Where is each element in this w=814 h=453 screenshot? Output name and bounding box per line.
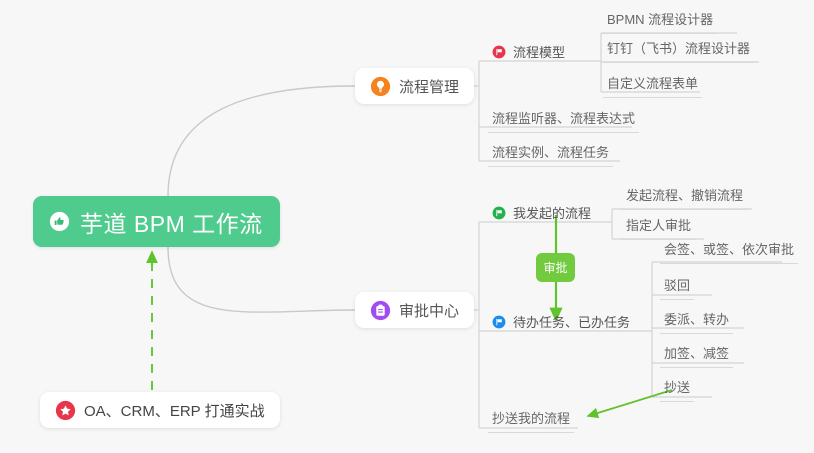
root-node[interactable]: 芋道 BPM 工作流	[33, 196, 280, 247]
approval-badge: 审批	[536, 253, 575, 282]
leaf-dingtalk-designer[interactable]: 钉钉（飞书）流程设计器	[603, 41, 754, 63]
leaf-add-remove-sign[interactable]: 加签、减签	[660, 346, 733, 368]
leaf-custom-form[interactable]: 自定义流程表单	[603, 76, 702, 98]
thumbs-up-icon	[49, 211, 70, 232]
mindmap-canvas: 芋道 BPM 工作流 流程管理 流程模型 BPMN 流程设计器 钉钉（飞书）流程…	[0, 0, 814, 453]
leaf-reject[interactable]: 驳回	[660, 278, 694, 300]
flag-blue-icon	[492, 315, 506, 329]
leaf-instance-task[interactable]: 流程实例、流程任务	[488, 145, 613, 167]
approval-badge-label: 审批	[543, 259, 567, 276]
branch-process-management[interactable]: 流程管理	[355, 68, 474, 104]
leaf-cc-to-me[interactable]: 抄送我的流程	[488, 411, 574, 433]
root-label: 芋道 BPM 工作流	[80, 205, 263, 239]
lightbulb-pin-icon	[370, 76, 391, 97]
node-my-started-processes[interactable]: 我发起的流程	[492, 203, 591, 222]
leaf-start-cancel-process[interactable]: 发起流程、撤销流程	[622, 188, 747, 210]
leaf-bpmn-designer[interactable]: BPMN 流程设计器	[603, 12, 717, 34]
node-label: 我发起的流程	[513, 203, 591, 222]
branch-label: 流程管理	[399, 76, 459, 97]
branch-label: 审批中心	[399, 300, 459, 321]
node-label: 待办任务、已办任务	[513, 312, 630, 331]
branch-approval-center[interactable]: 审批中心	[355, 292, 474, 328]
wire-root-to-approval	[168, 247, 355, 312]
leaf-assignee-approval[interactable]: 指定人审批	[622, 218, 695, 240]
flag-red-icon	[492, 45, 506, 59]
footer-label: OA、CRM、ERP 打通实战	[84, 400, 265, 421]
leaf-countersign[interactable]: 会签、或签、依次审批	[660, 242, 798, 264]
node-todo-done-tasks[interactable]: 待办任务、已办任务	[492, 312, 630, 331]
node-label: 流程模型	[513, 42, 565, 61]
clipboard-purple-icon	[370, 300, 391, 321]
footer-node-integration[interactable]: OA、CRM、ERP 打通实战	[40, 392, 280, 428]
flag-green-icon	[492, 206, 506, 220]
wire-root-to-process	[168, 86, 355, 196]
node-process-model[interactable]: 流程模型	[492, 42, 565, 61]
leaf-listener-expression[interactable]: 流程监听器、流程表达式	[488, 111, 639, 133]
star-icon	[55, 400, 76, 421]
leaf-carbon-copy[interactable]: 抄送	[660, 380, 694, 402]
leaf-delegate-transfer[interactable]: 委派、转办	[660, 312, 733, 334]
